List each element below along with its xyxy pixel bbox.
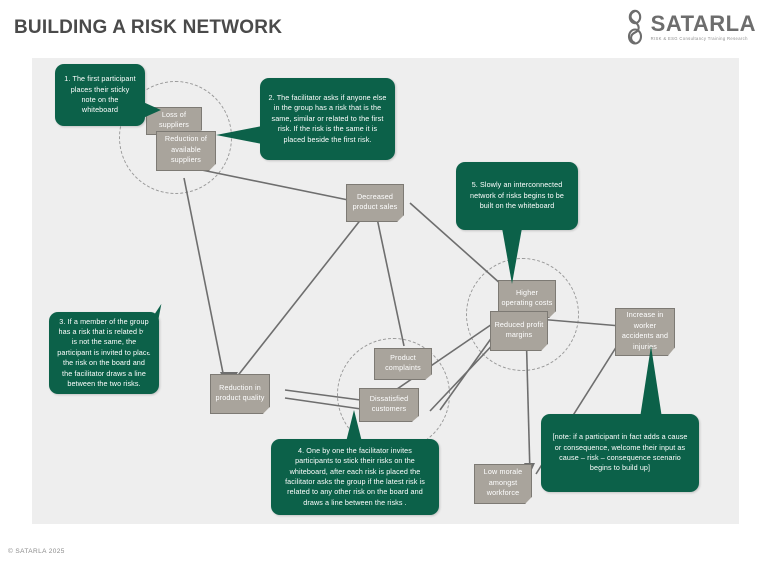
note-label: Higher operating costs xyxy=(501,288,553,309)
note-label: Low morale amongst workforce xyxy=(477,467,529,499)
brand-tagline: RISK & ESG Consultancy Training Research xyxy=(651,37,756,41)
note-label: Decreased product sales xyxy=(349,192,401,213)
callout-step-4-tail xyxy=(345,410,363,446)
note-product-complaints[interactable]: Product complaints xyxy=(374,348,432,380)
page-title: BUILDING A RISK NETWORK xyxy=(14,17,282,39)
callout-step-2-tail xyxy=(216,126,262,144)
note-dissatisfied-customers[interactable]: Dissatisfied customers xyxy=(359,388,419,422)
callout-text: 2. The facilitator asks if anyone else i… xyxy=(268,93,387,145)
note-low-morale-workforce[interactable]: Low morale amongst workforce xyxy=(474,464,532,504)
callout-text: 4. One by one the facilitator invites pa… xyxy=(279,446,431,508)
callout-text: [note: if a participant in fact adds a c… xyxy=(549,432,691,474)
note-decreased-product-sales[interactable]: Decreased product sales xyxy=(346,184,404,222)
callout-note-aside-tail xyxy=(640,346,662,418)
note-label: Reduced profit margins xyxy=(493,320,545,341)
callout-step-5-tail xyxy=(502,228,522,284)
brand-text: SATARLA RISK & ESG Consultancy Training … xyxy=(651,13,756,41)
callout-text: 1. The first participant places their st… xyxy=(63,74,137,116)
note-label: Dissatisfied customers xyxy=(362,394,416,415)
callout-step-2[interactable]: 2. The facilitator asks if anyone else i… xyxy=(260,78,395,160)
note-reduced-profit-margins[interactable]: Reduced profit margins xyxy=(490,311,548,351)
slide-root: BUILDING A RISK NETWORK SATARLA RISK & E… xyxy=(0,0,768,573)
callout-text: 3. If a member of the group has a risk t… xyxy=(57,317,151,390)
callout-text: 5. Slowly an interconnected network of r… xyxy=(464,180,570,211)
callout-step-5[interactable]: 5. Slowly an interconnected network of r… xyxy=(456,162,578,230)
note-reduction-available-suppliers[interactable]: Reduction of available suppliers xyxy=(156,131,216,171)
footer-copyright: © SATARLA 2025 xyxy=(8,548,65,555)
brand-logo: SATARLA RISK & ESG Consultancy Training … xyxy=(624,8,756,46)
diagram-canvas: Loss of suppliers Reduction of available… xyxy=(32,58,739,524)
callout-step-1[interactable]: 1. The first participant places their st… xyxy=(55,64,145,126)
note-label: Product complaints xyxy=(377,353,429,374)
brand-name: SATARLA xyxy=(651,13,756,35)
note-reduction-product-quality[interactable]: Reduction in product quality xyxy=(210,374,270,414)
callout-step-1-tail xyxy=(143,102,161,118)
note-label: Reduction of available suppliers xyxy=(159,134,213,166)
note-label: Reduction in product quality xyxy=(213,383,267,404)
callout-step-4[interactable]: 4. One by one the facilitator invites pa… xyxy=(271,439,439,515)
callout-note-aside[interactable]: [note: if a participant in fact adds a c… xyxy=(541,414,699,492)
satarla-knot-icon xyxy=(624,9,646,45)
